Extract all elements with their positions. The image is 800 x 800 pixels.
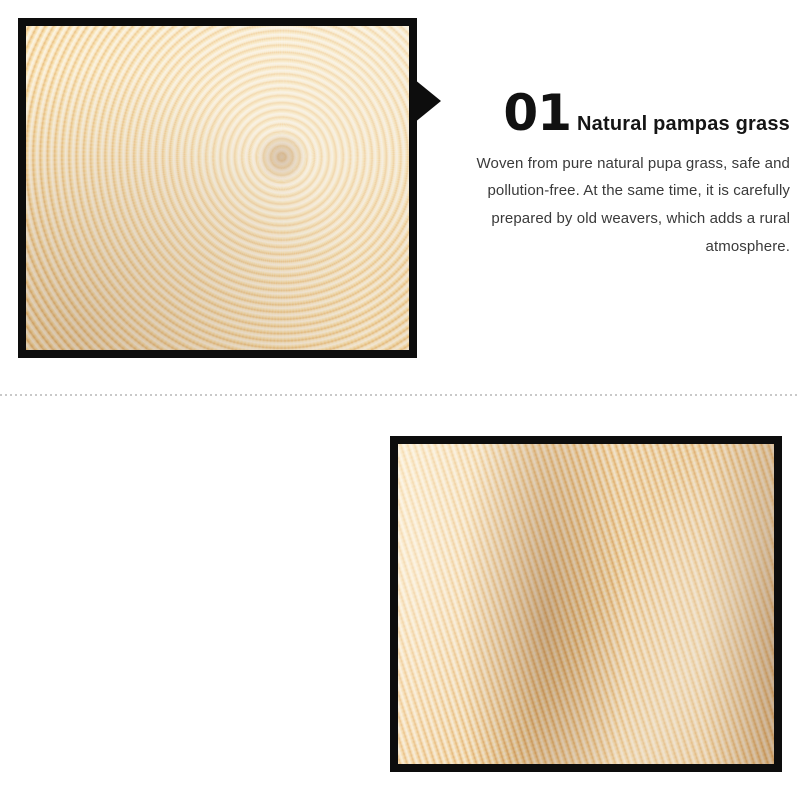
woven-straw-edge-detail-image: [398, 444, 774, 764]
callout-arrow-right-icon: [414, 79, 441, 123]
feature-heading-01: 01 Natural pampas grass: [430, 90, 790, 138]
woven-straw-mat-top-view-image: [26, 26, 409, 350]
straw-weave-texture: [26, 26, 409, 350]
feature-section-02: 02 Perfect edging Superb weaving techniq…: [0, 396, 800, 800]
product-feature-page: 01 Natural pampas grass Woven from pure …: [0, 0, 800, 800]
feature-text-block-01: 01 Natural pampas grass Woven from pure …: [430, 90, 790, 261]
feature-image-frame-02: [390, 436, 782, 772]
feature-section-01: 01 Natural pampas grass Woven from pure …: [0, 0, 800, 395]
feature-image-frame-01: [18, 18, 417, 358]
feature-body-01: Woven from pure natural pupa grass, safe…: [430, 150, 790, 261]
feature-title-01: Natural pampas grass: [577, 113, 790, 136]
feature-number-01: 01: [503, 90, 571, 138]
straw-edge-texture: [398, 444, 774, 764]
